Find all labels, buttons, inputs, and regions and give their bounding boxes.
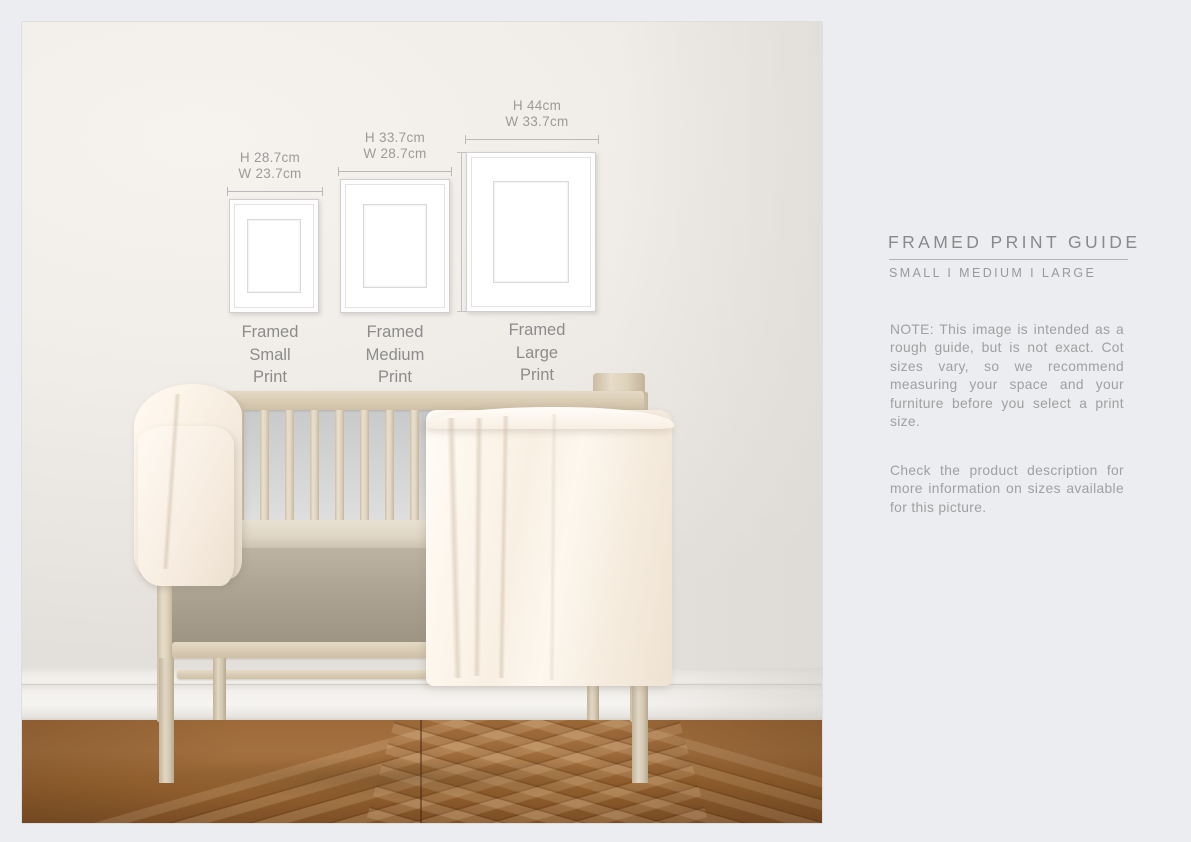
panel-subtitle: SMALL I MEDIUM I LARGE: [889, 266, 1096, 280]
panel-title: FRAMED PRINT GUIDE: [888, 232, 1140, 253]
cot-leg-front-left: [159, 658, 174, 783]
cot-leg-back-left: [213, 658, 226, 720]
info-panel: FRAMED PRINT GUIDE SMALL I MEDIUM I LARG…: [888, 0, 1148, 842]
nursery-scene-photo: H 28.7cm W 23.7cm Framed Small Print H 3…: [22, 22, 822, 823]
cot-floor-shadow: [132, 757, 652, 799]
panel-note-secondary-text: Check the product description for more i…: [890, 462, 1124, 517]
cot: [22, 22, 822, 823]
panel-note-text: NOTE: This image is intended as a rough …: [890, 321, 1124, 431]
blanket-left-fold: [138, 426, 234, 586]
framed-print-guide-page: H 28.7cm W 23.7cm Framed Small Print H 3…: [0, 0, 1191, 842]
panel-divider: [889, 259, 1128, 260]
